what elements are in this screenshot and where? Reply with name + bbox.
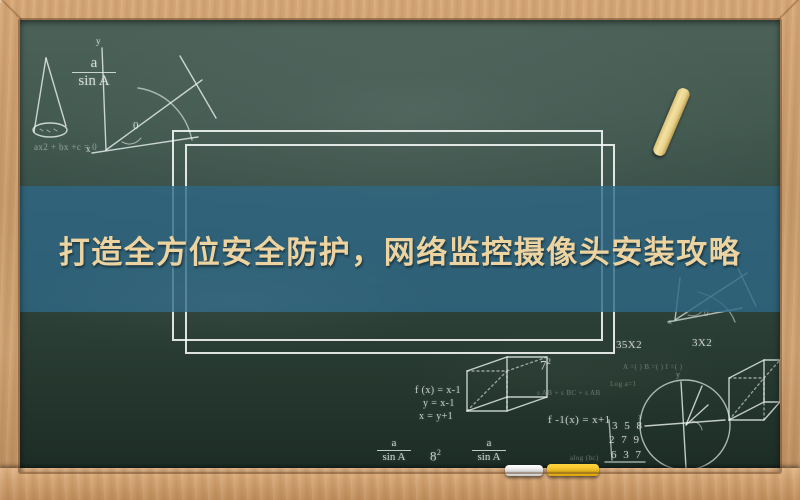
board-inner-shadow (20, 20, 780, 472)
chalk-tray (0, 468, 800, 500)
blackboard-banner-image: a sin A ax2 + bx +c = 0 y x 0 f (x) = x-… (0, 0, 800, 500)
